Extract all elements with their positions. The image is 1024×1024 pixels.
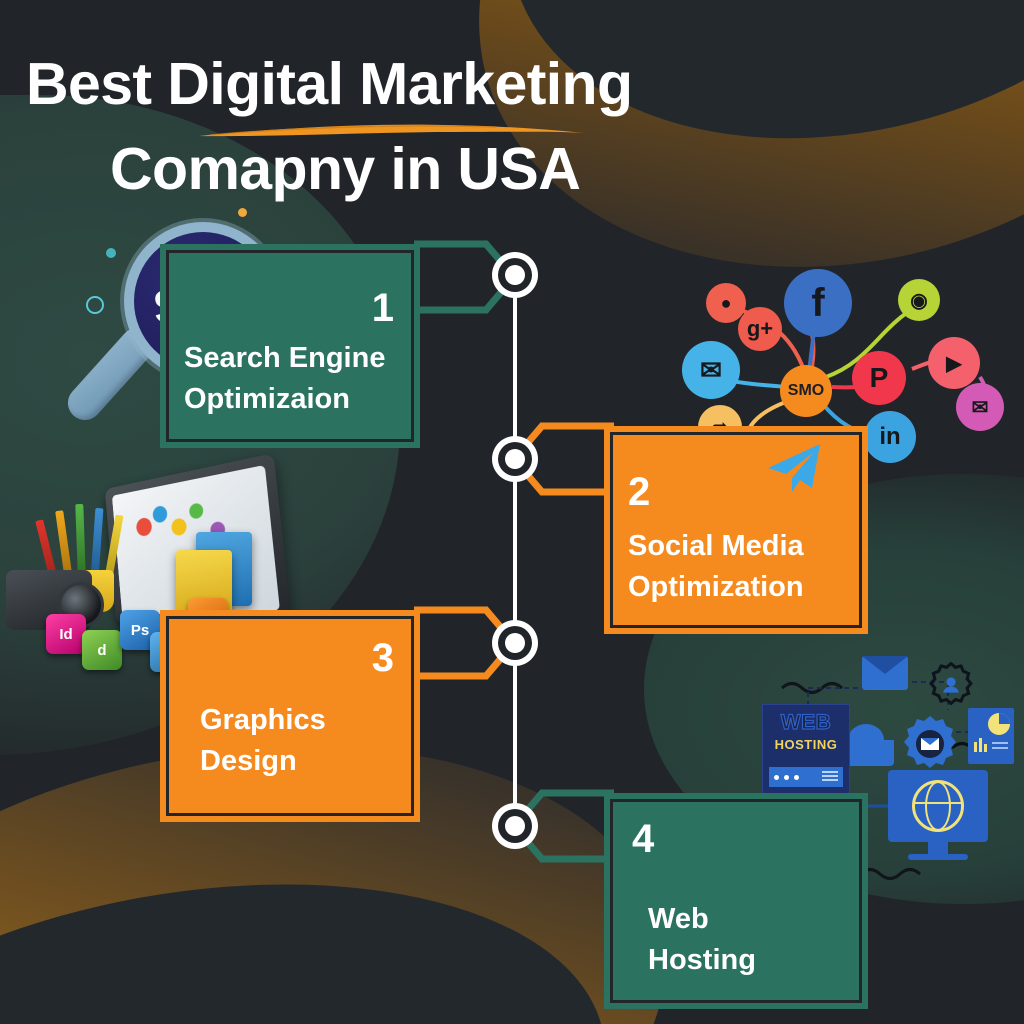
analytics-document-icon [968,708,1014,764]
step-card-1[interactable]: 1 Search Engine Optimizaion [160,244,420,448]
globe-icon [912,780,964,832]
server-word-web: WEB [763,711,849,735]
youtube-icon: ▶ [928,337,980,389]
monitor-globe-icon [888,770,988,842]
wechat-icon: ✉ [956,383,1004,431]
step-title-1: Search Engine Optimizaion [184,338,385,420]
step-card-3[interactable]: 3 Graphics Design [160,610,420,822]
youtube-glyph: ▶ [946,351,961,376]
step-number-2: 2 [628,472,650,512]
node-dot [505,816,525,836]
wechat-glyph: ✉ [972,395,989,420]
user-profile-icon: ● [706,283,746,323]
telegram-icon [762,440,824,496]
timeline-node-4[interactable] [492,803,538,849]
mail-envelope-icon [862,656,908,690]
node-ring-gap [498,258,532,292]
pinterest-icon: P [852,351,906,405]
gear-mail-icon [900,714,960,774]
smo-hub-icon: SMO [780,365,832,417]
node-ring-gap [498,442,532,476]
node-dot [505,633,525,653]
linkedin-icon: in [864,411,916,463]
adobe-label: Ps [131,622,149,639]
server-bay [769,767,843,787]
smo-glyph: SMO [788,382,824,400]
step-title-2: Social Media Optimization [628,526,804,608]
node-dot [505,449,525,469]
gear-user-icon [928,662,974,708]
step-title-3: Graphics Design [200,700,326,782]
rss-icon: ◉ [898,279,940,321]
facebook-icon: f [784,269,852,337]
step-number-1: 1 [372,288,394,328]
sparkle-dot [106,248,116,258]
node-dot [505,265,525,285]
google-plus-glyph: g+ [747,316,773,342]
facebook-glyph: f [811,281,824,326]
google-plus-icon: g+ [738,307,782,351]
adobe-label: d [97,642,106,659]
sparkle-ring [86,296,104,314]
timeline-node-1[interactable] [492,252,538,298]
step-card-4[interactable]: 4 Web Hosting [604,793,868,1009]
user-glyph: ● [721,293,732,314]
twitter-icon: ✉ [682,341,740,399]
monitor-base [908,854,968,860]
node-ring-gap [498,809,532,843]
linkedin-glyph: in [879,423,900,451]
step-number-4: 4 [632,819,654,859]
poster-title: Best Digital Marketing Comapny in USA [26,55,926,199]
timeline-node-2[interactable] [492,436,538,482]
adobe-label: Id [59,626,72,643]
title-line-2: Comapny in USA [110,140,926,199]
node-ring-gap [498,626,532,660]
step-title-4: Web Hosting [648,899,756,981]
infographic-poster: Best Digital Marketing Comapny in USA SE… [0,0,1024,1024]
timeline-spine [513,275,517,825]
indesign-icon: Id [46,614,86,654]
dreamweaver-icon: d [82,630,122,670]
monitor-stand [928,842,948,854]
chart-glyph [968,708,1014,764]
timeline-node-3[interactable] [492,620,538,666]
sparkle-dot-orange [238,208,247,217]
step-number-3: 3 [372,638,394,678]
step-card-2[interactable]: 2 Social Media Optimization [604,426,868,634]
title-line-1: Best Digital Marketing [26,55,926,114]
rss-glyph: ◉ [910,288,927,313]
server-word-hosting: HOSTING [763,737,849,752]
twitter-glyph: ✉ [700,355,722,386]
pinterest-glyph: P [870,362,889,394]
title-underline-brushstroke [196,119,586,141]
